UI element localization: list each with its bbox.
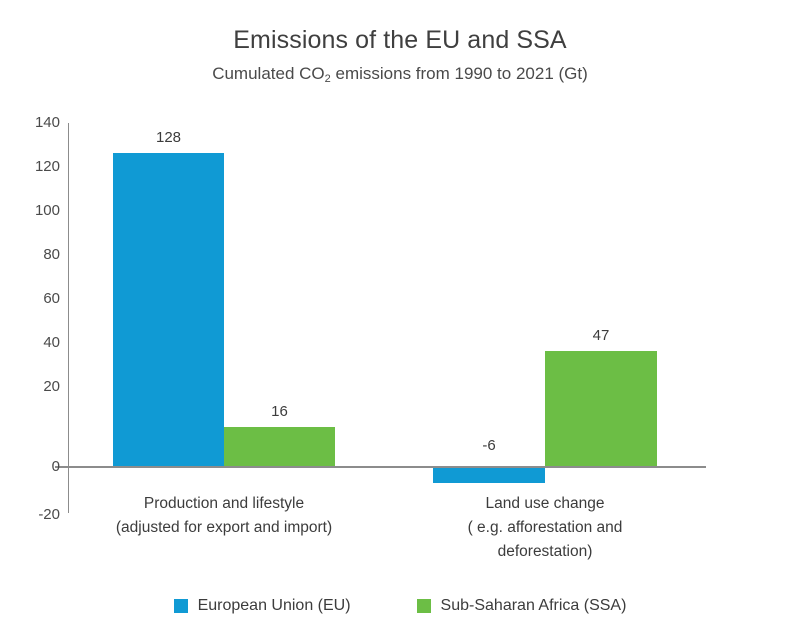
zero-baseline xyxy=(55,466,706,468)
category-label-landuse: Land use change ( e.g. afforestation and… xyxy=(395,492,695,564)
bar-value-ssa-landuse: 47 xyxy=(545,327,657,345)
bar-ssa-production[interactable] xyxy=(224,427,335,466)
plot-area: 140 120 100 80 60 40 20 0 -20 128 xyxy=(0,0,800,640)
bar-ssa-landuse[interactable] xyxy=(545,351,657,466)
legend-item-eu[interactable]: European Union (EU) xyxy=(174,596,351,616)
bar-value-eu-production: 128 xyxy=(113,129,224,147)
category-label-landuse-line3: deforestation) xyxy=(395,540,695,564)
category-label-production-line1: Production and lifestyle xyxy=(74,492,374,516)
bar-eu-landuse[interactable] xyxy=(433,468,545,483)
chart-legend: European Union (EU) Sub-Saharan Africa (… xyxy=(0,596,800,616)
category-label-production-line2: (adjusted for export and import) xyxy=(74,516,374,540)
chart-container: Emissions of the EU and SSA Cumulated CO… xyxy=(0,0,800,640)
category-label-landuse-line2: ( e.g. afforestation and xyxy=(395,516,695,540)
legend-item-ssa[interactable]: Sub-Saharan Africa (SSA) xyxy=(417,596,627,616)
category-label-production: Production and lifestyle (adjusted for e… xyxy=(74,492,374,540)
legend-label-ssa: Sub-Saharan Africa (SSA) xyxy=(441,596,627,616)
bar-value-eu-landuse: -6 xyxy=(433,437,545,455)
legend-swatch-eu-icon xyxy=(174,599,188,613)
legend-label-eu: European Union (EU) xyxy=(198,596,351,616)
y-axis-line xyxy=(68,123,69,513)
bar-eu-production[interactable] xyxy=(113,153,224,466)
bar-value-ssa-production: 16 xyxy=(224,403,335,421)
legend-swatch-ssa-icon xyxy=(417,599,431,613)
category-label-landuse-line1: Land use change xyxy=(395,492,695,516)
